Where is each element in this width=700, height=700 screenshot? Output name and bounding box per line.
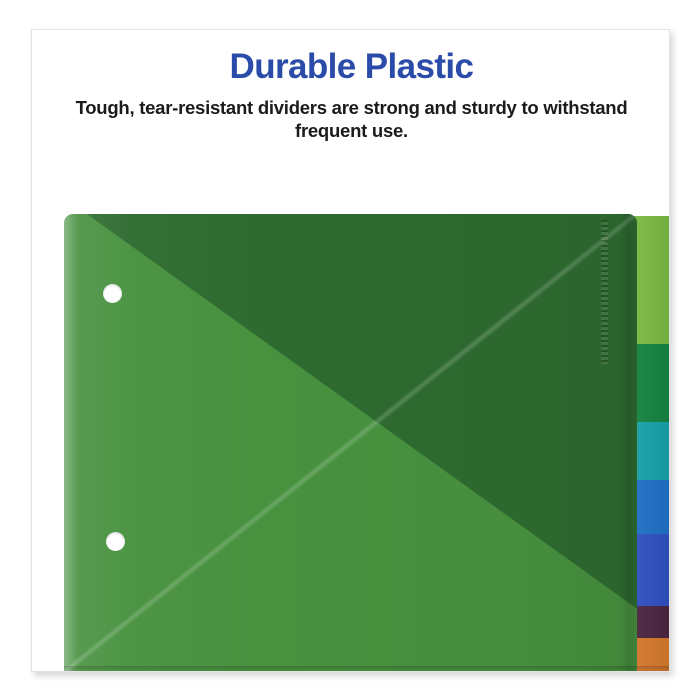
punch-hole-bottom [106, 532, 125, 551]
sheet-bottom-shadow [64, 666, 670, 672]
sheet-left-edge-highlight [64, 214, 78, 672]
divider-sheet [64, 214, 637, 672]
sheet-gloss [64, 214, 637, 672]
product-image-card: Durable Plastic Tough, tear-resistant di… [31, 29, 670, 672]
sheet-right-edge-shading [619, 214, 637, 672]
screenshot-root: Durable Plastic Tough, tear-resistant di… [0, 0, 700, 700]
reinforced-ridge-strip [601, 220, 608, 364]
product-photo [32, 30, 670, 672]
punch-hole-top [103, 284, 122, 303]
